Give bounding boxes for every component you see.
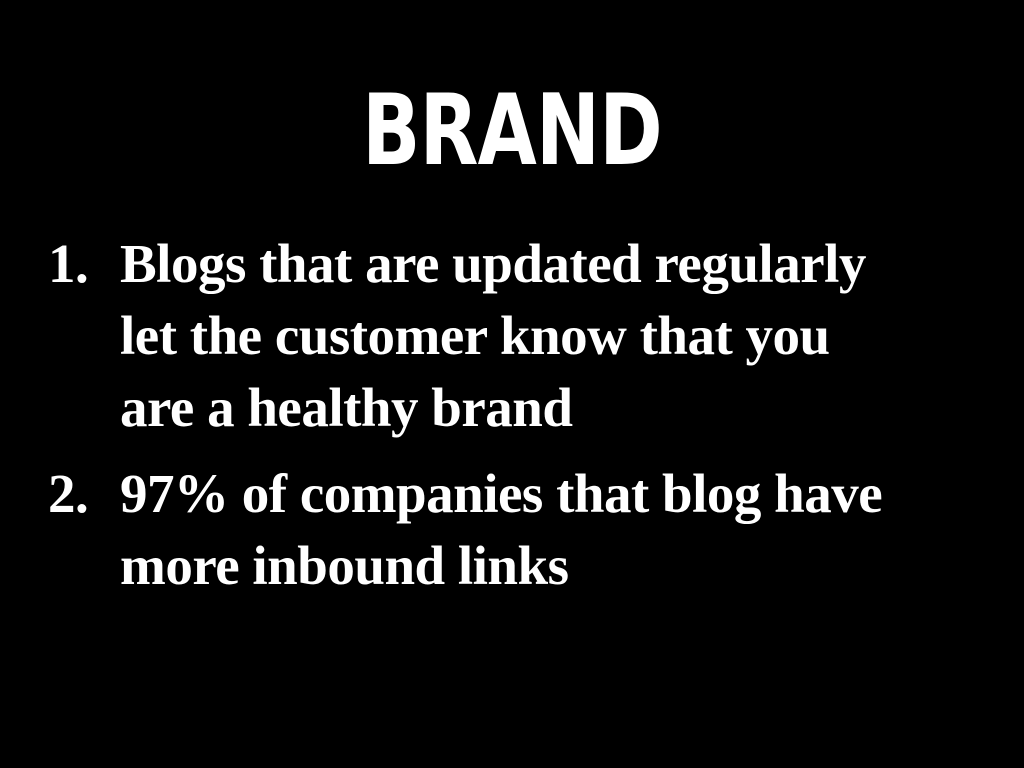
list-item: 2. 97% of companies that blog have more …	[48, 458, 988, 602]
list-item-text: 97% of companies that blog have more inb…	[120, 458, 910, 602]
page-title: BRAND	[113, 82, 912, 180]
list-item-marker: 2.	[48, 458, 120, 530]
numbered-points-list: 1. Blogs that are updated regularly let …	[48, 228, 988, 602]
list-item-text: Blogs that are updated regularly let the…	[120, 228, 910, 444]
list-item-marker: 1.	[48, 228, 120, 300]
slide: BRAND 1. Blogs that are updated regularl…	[0, 0, 1024, 768]
list-item: 1. Blogs that are updated regularly let …	[48, 228, 988, 444]
